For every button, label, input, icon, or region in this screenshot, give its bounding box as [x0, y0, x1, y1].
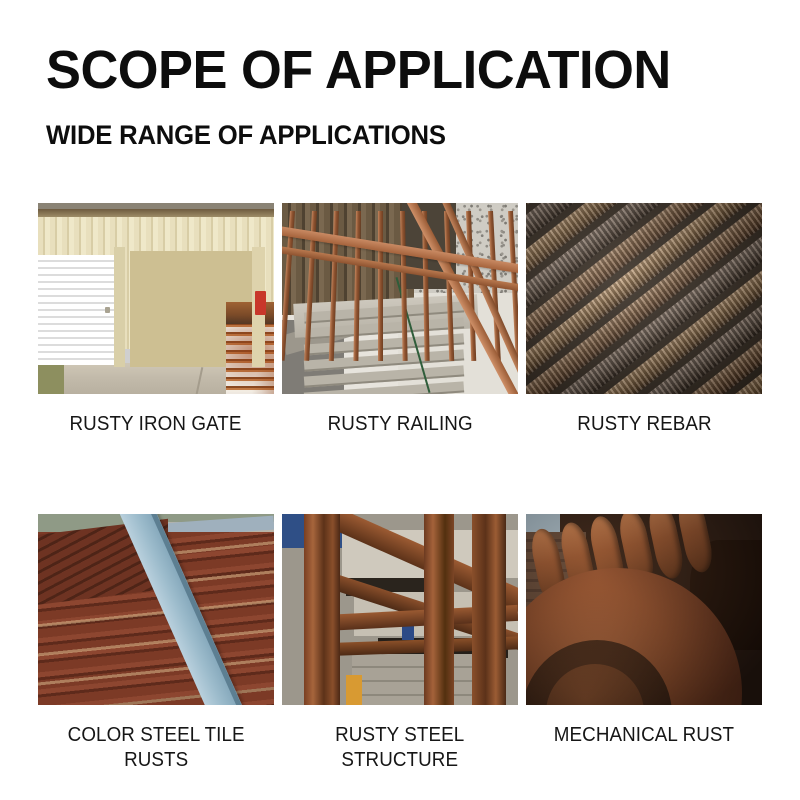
page-header: SCOPE OF APPLICATION WIDE RANGE OF APPLI…	[46, 42, 766, 150]
caption-mechanical-rust: MECHANICAL RUST	[554, 723, 734, 748]
grid-item-rusty-steel-structure[interactable]: RUSTY STEEL STRUCTURE	[282, 514, 518, 773]
page-title: SCOPE OF APPLICATION	[46, 42, 744, 98]
image-mechanical-rust	[526, 514, 762, 705]
yellow-marker	[346, 675, 362, 705]
rusty-door-frame	[130, 251, 254, 367]
grid-item-color-steel-tile-rusts[interactable]: COLOR STEEL TILE RUSTS	[38, 514, 274, 773]
picket	[466, 211, 476, 361]
image-color-steel-tile-rusts	[38, 514, 274, 705]
image-rusty-railing	[282, 203, 518, 394]
scene-rusty-rebar	[526, 203, 762, 394]
door-post-left	[114, 247, 125, 367]
application-grid: RUSTY IRON GATE	[38, 203, 762, 773]
rusty-rollup-door	[226, 302, 274, 394]
image-rusty-steel-structure	[282, 514, 518, 705]
scene-color-steel-tile-rusts	[38, 514, 274, 705]
steel-column-left	[304, 514, 340, 705]
caption-rusty-steel-structure: RUSTY STEEL STRUCTURE	[335, 723, 464, 773]
block-wall	[352, 654, 472, 705]
grid-item-mechanical-rust[interactable]: MECHANICAL RUST	[526, 514, 762, 773]
scene-mechanical-rust	[526, 514, 762, 705]
grid-row: COLOR STEEL TILE RUSTS	[38, 514, 762, 773]
roof-trim	[38, 209, 274, 217]
lighting-overlay	[526, 514, 762, 705]
image-rusty-rebar	[526, 203, 762, 394]
steel-column-right	[472, 514, 506, 705]
white-garage-door	[38, 255, 118, 365]
picket	[378, 211, 383, 361]
caption-rusty-iron-gate: RUSTY IRON GATE	[70, 412, 242, 437]
caption-color-steel-tile-rusts: COLOR STEEL TILE RUSTS	[67, 723, 244, 773]
picket	[400, 211, 408, 361]
scope-of-application-page: SCOPE OF APPLICATION WIDE RANGE OF APPLI…	[0, 0, 800, 800]
caption-rusty-railing: RUSTY RAILING	[327, 412, 472, 437]
grass-patch	[38, 361, 64, 394]
image-rusty-iron-gate	[38, 203, 274, 394]
page-subtitle: WIDE RANGE OF APPLICATIONS	[46, 120, 730, 150]
steel-column-center	[424, 514, 454, 705]
red-wall-fixture	[255, 291, 266, 315]
scene-rusty-iron-gate	[38, 203, 274, 394]
scene-rusty-steel-structure	[282, 514, 518, 705]
grid-item-rusty-railing[interactable]: RUSTY RAILING	[282, 203, 518, 437]
caption-rusty-rebar: RUSTY REBAR	[577, 412, 711, 437]
scene-rusty-railing	[282, 203, 518, 394]
grid-row: RUSTY IRON GATE	[38, 203, 762, 437]
lighting-overlay	[526, 203, 762, 394]
grid-item-rusty-rebar[interactable]: RUSTY REBAR	[526, 203, 762, 437]
grid-item-rusty-iron-gate[interactable]: RUSTY IRON GATE	[38, 203, 274, 437]
picket	[353, 211, 361, 361]
